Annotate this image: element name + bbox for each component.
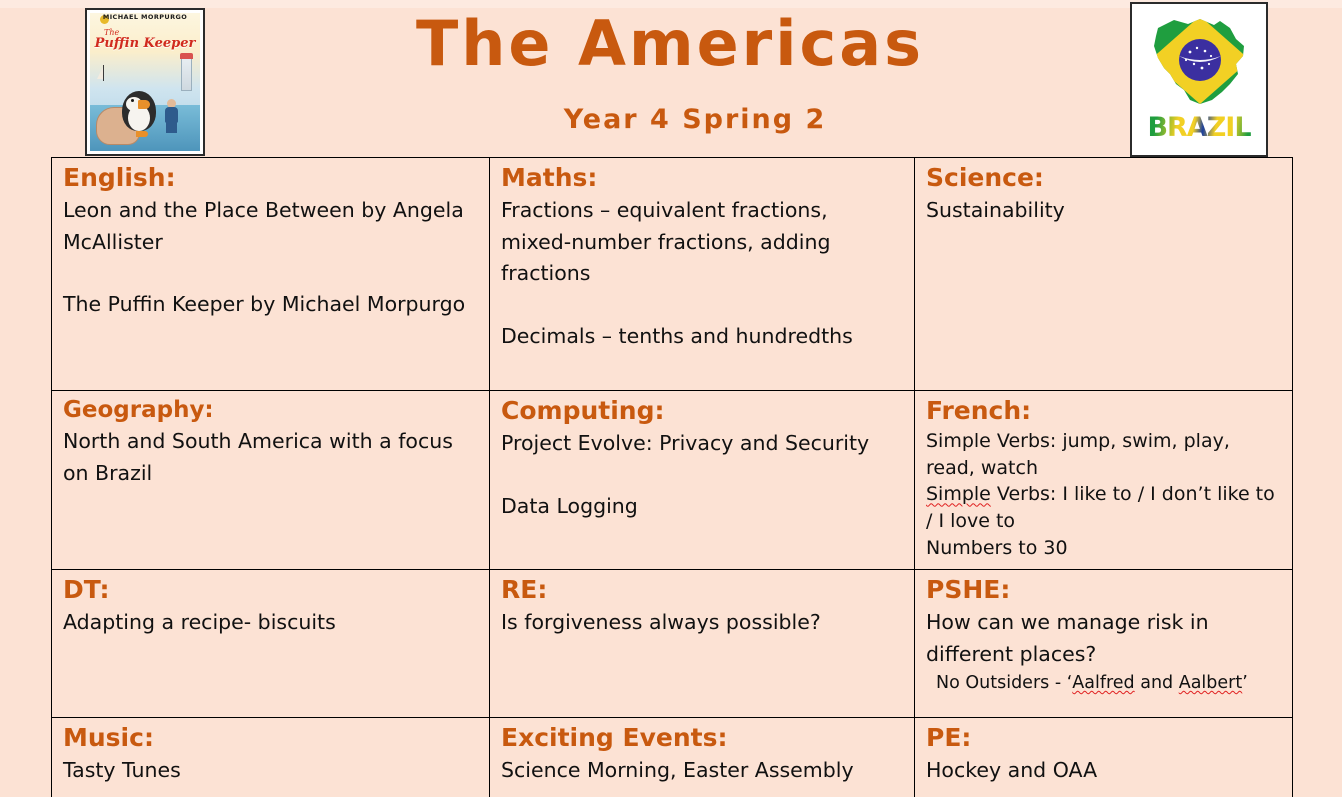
cell-body-music: Tasty Tunes (63, 755, 478, 786)
table-row: DT: Adapting a recipe- biscuits RE: Is f… (52, 570, 1293, 718)
boy-body (165, 107, 178, 123)
cell-heading-exciting-events: Exciting Events: (501, 725, 903, 751)
cell-pshe: PSHE: How can we manage risk in differen… (915, 570, 1293, 718)
puffin-eye (131, 99, 134, 102)
cell-heading-french: French: (926, 398, 1281, 424)
cell-dt: DT: Adapting a recipe- biscuits (52, 570, 490, 718)
brazil-image: BRAZIL (1130, 2, 1268, 157)
cell-heading-geography: Geography: (63, 398, 478, 422)
cell-maths: Maths: Fractions – equivalent fractions,… (490, 158, 915, 391)
cell-geography: Geography: North and South America with … (52, 391, 490, 570)
page-header: MICHAEL MORPURGO The Puffin Keeper (0, 0, 1342, 157)
boy-figure-icon (164, 99, 180, 133)
pshe-sub-name-2: Aalbert (1179, 673, 1243, 693)
cell-body-maths: Fractions – equivalent fractions, mixed-… (501, 195, 903, 352)
cell-heading-pshe: PSHE: (926, 577, 1281, 603)
cell-heading-english: English: (63, 165, 478, 191)
cell-heading-pe: PE: (926, 725, 1281, 751)
pshe-sub-prefix: No Outsiders - ‘ (936, 673, 1072, 693)
puffin-beak (138, 100, 150, 109)
cell-body-computing: Project Evolve: Privacy and Security Dat… (501, 428, 903, 522)
brazil-artwork: BRAZIL (1132, 4, 1266, 155)
cell-exciting-events: Exciting Events: Science Morning, Easter… (490, 718, 915, 797)
cell-body-exciting-events: Science Morning, Easter Assembly (501, 755, 903, 786)
cell-heading-music: Music: (63, 725, 478, 751)
cell-heading-dt: DT: (63, 577, 478, 603)
cell-french: French: Simple Verbs: jump, swim, play, … (915, 391, 1293, 570)
brazil-label: BRAZIL (1132, 114, 1266, 141)
cell-subline-pshe: No Outsiders - ‘Aalfred and Aalbert’ (936, 672, 1281, 696)
sailboat-icon (96, 65, 114, 85)
cell-music: Music: Tasty Tunes (52, 718, 490, 797)
cell-body-geography: North and South America with a focus on … (63, 426, 478, 489)
french-line-2-misspelled: Simple (926, 483, 991, 505)
cell-computing: Computing: Project Evolve: Privacy and S… (490, 391, 915, 570)
cell-body-pshe: How can we manage risk in different plac… (926, 607, 1281, 670)
cell-body-science: Sustainability (926, 195, 1281, 226)
cell-pe: PE: Hockey and OAA (915, 718, 1293, 797)
cell-heading-science: Science: (926, 165, 1281, 191)
table-row: English: Leon and the Place Between by A… (52, 158, 1293, 391)
puffin-feet (136, 131, 148, 137)
cell-heading-re: RE: (501, 577, 903, 603)
cell-heading-computing: Computing: (501, 398, 903, 424)
cell-body-french: Simple Verbs: jump, swim, play, read, wa… (926, 428, 1281, 561)
lighthouse-icon (181, 57, 192, 91)
page-subtitle: Year 4 Spring 2 (230, 104, 1160, 135)
cell-english: English: Leon and the Place Between by A… (52, 158, 490, 391)
cell-heading-maths: Maths: (501, 165, 903, 191)
cell-science: Science: Sustainability (915, 158, 1293, 391)
pshe-sub-middle: and (1135, 673, 1179, 693)
pshe-sub-name-1: Aalfred (1072, 673, 1134, 693)
cell-body-pe: Hockey and OAA (926, 755, 1281, 786)
cell-body-english: Leon and the Place Between by Angela McA… (63, 195, 478, 320)
table-row: Music: Tasty Tunes Exciting Events: Scie… (52, 718, 1293, 797)
boat-sail (103, 65, 104, 81)
curriculum-grid: English: Leon and the Place Between by A… (51, 157, 1293, 797)
cell-body-re: Is forgiveness always possible? (501, 607, 903, 638)
pshe-sub-suffix: ’ (1242, 673, 1248, 693)
french-line-1: Simple Verbs: jump, swim, play, read, wa… (926, 430, 1230, 479)
table-row: Geography: North and South America with … (52, 391, 1293, 570)
curriculum-overview-page: MICHAEL MORPURGO The Puffin Keeper (0, 0, 1342, 797)
book-cover-image: MICHAEL MORPURGO The Puffin Keeper (85, 8, 205, 156)
cell-re: RE: Is forgiveness always possible? (490, 570, 915, 718)
book-author-label: MICHAEL MORPURGO (90, 14, 200, 21)
boy-legs (166, 122, 177, 133)
book-cover-artwork: MICHAEL MORPURGO The Puffin Keeper (90, 13, 200, 151)
brazil-map-icon (1144, 12, 1256, 108)
page-title: The Americas (230, 8, 1110, 79)
book-title-label: Puffin Keeper (90, 37, 200, 50)
french-line-3: Numbers to 30 (926, 537, 1068, 559)
cell-body-dt: Adapting a recipe- biscuits (63, 607, 478, 638)
